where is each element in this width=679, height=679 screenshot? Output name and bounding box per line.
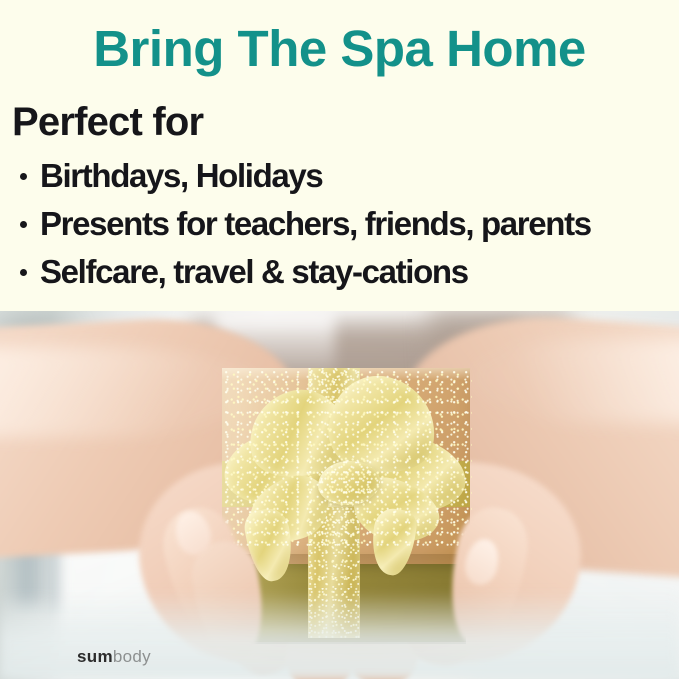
- benefit-list: Birthdays, Holidays Presents for teacher…: [14, 152, 679, 296]
- brand-logo-body: body: [113, 647, 151, 666]
- list-item-label: Presents for teachers, friends, parents: [40, 205, 591, 242]
- bullet-dot-icon: [20, 269, 27, 276]
- list-item: Birthdays, Holidays: [14, 152, 679, 200]
- product-listing-image: Bring The Spa Home Perfect for Birthdays…: [0, 0, 679, 679]
- page-title: Bring The Spa Home: [0, 19, 679, 79]
- product-photo-hands-holding-gift-box: [0, 311, 679, 679]
- bullet-dot-icon: [20, 173, 27, 180]
- list-item-label: Birthdays, Holidays: [40, 157, 322, 194]
- brand-logo-sum: sum: [77, 647, 113, 666]
- list-item-label: Selfcare, travel & stay-cations: [40, 253, 468, 290]
- section-heading-perfect-for: Perfect for: [12, 99, 203, 145]
- brand-logo: sumbody: [77, 647, 151, 667]
- bullet-dot-icon: [20, 221, 27, 228]
- promo-text-panel: Bring The Spa Home Perfect for Birthdays…: [0, 0, 679, 311]
- list-item: Presents for teachers, friends, parents: [14, 200, 679, 248]
- list-item: Selfcare, travel & stay-cations: [14, 248, 679, 296]
